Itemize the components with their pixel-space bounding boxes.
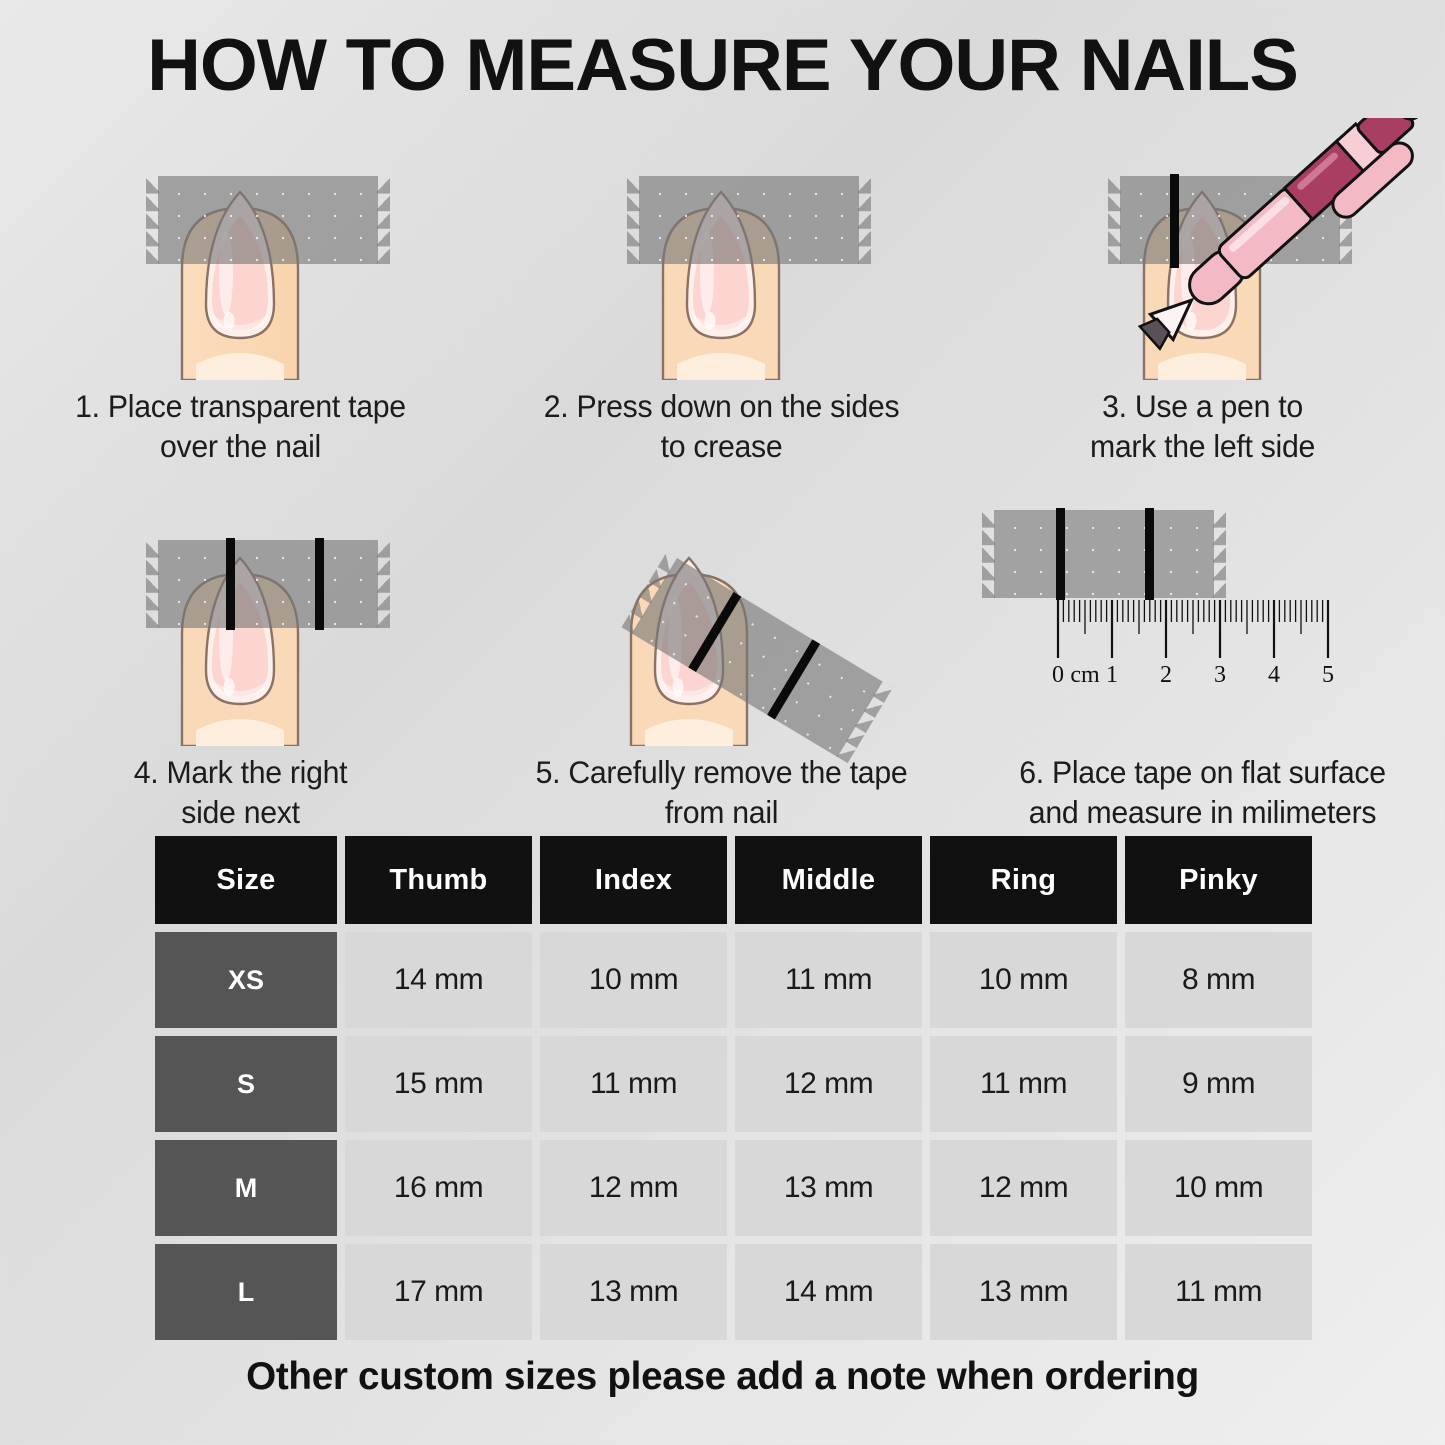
step-6-illustration: 012345cm [962,488,1443,746]
tape-dots [639,176,859,264]
infographic-root: HOW TO MEASURE YOUR NAILS [0,0,1445,1445]
table-header-row: Size Thumb Index Middle Ring Pinky [155,836,1322,924]
cell-s-index: 11 mm [540,1036,727,1132]
table-row: L 17 mm 13 mm 14 mm 13 mm 11 mm [155,1244,1322,1340]
cell-m-thumb: 16 mm [345,1140,532,1236]
step-4-illustration [0,488,481,746]
step-5-caption-line2: from nail [491,792,953,832]
size-table: Size Thumb Index Middle Ring Pinky XS 14… [155,836,1322,1348]
tape-dots [158,176,378,264]
ruler-ticks [1002,600,1332,710]
steps-row-1: 1. Place transparent tape over the nail [0,118,1445,466]
table-header-middle: Middle [735,836,922,924]
ruler-label-1: 1 [1106,662,1118,689]
left-pen-mark [1056,508,1065,600]
table-header-thumb: Thumb [345,836,532,924]
step-3-illustration [962,118,1443,380]
step-1-caption-line2: over the nail [10,426,472,466]
size-label-xs: XS [155,932,337,1028]
cell-xs-middle: 11 mm [735,932,922,1028]
cell-s-pinky: 9 mm [1125,1036,1312,1132]
ruler-label-5: 5 [1322,662,1334,689]
cell-l-middle: 14 mm [735,1244,922,1340]
step-5: 5. Carefully remove the tape from nail [481,488,962,832]
step-1: 1. Place transparent tape over the nail [0,118,481,466]
tape-dots [158,540,378,628]
step-3-caption-line1: 3. Use a pen to [972,386,1434,426]
cell-m-pinky: 10 mm [1125,1140,1312,1236]
step-6-caption: 6. Place tape on flat surface and measur… [972,752,1434,832]
cell-s-thumb: 15 mm [345,1036,532,1132]
table-row: XS 14 mm 10 mm 11 mm 10 mm 8 mm [155,932,1322,1028]
cell-l-pinky: 11 mm [1125,1244,1312,1340]
size-label-s: S [155,1036,337,1132]
cell-xs-ring: 10 mm [930,932,1117,1028]
table-header-pinky: Pinky [1125,836,1312,924]
cell-m-middle: 13 mm [735,1140,922,1236]
cell-l-ring: 13 mm [930,1244,1117,1340]
step-1-caption-line1: 1. Place transparent tape [10,386,472,426]
table-header-ring: Ring [930,836,1117,924]
step-4-caption-line2: side next [10,792,472,832]
cell-xs-pinky: 8 mm [1125,932,1312,1028]
size-label-l: L [155,1244,337,1340]
tape-strip [158,176,378,264]
pen-icon [962,118,1443,380]
step-4-caption-line1: 4. Mark the right [10,752,472,792]
cell-s-ring: 11 mm [930,1036,1117,1132]
step-2: 2. Press down on the sides to crease [481,118,962,466]
table-row: M 16 mm 12 mm 13 mm 12 mm 10 mm [155,1140,1322,1236]
tape-strip [639,176,859,264]
ruler-unit-label: cm [1070,662,1099,689]
tape-strip [994,510,1214,598]
ruler-label-2: 2 [1160,662,1172,689]
step-3-caption: 3. Use a pen to mark the left side [972,386,1434,466]
step-2-caption: 2. Press down on the sides to crease [491,386,953,466]
step-6-caption-line1: 6. Place tape on flat surface [972,752,1434,792]
steps-row-2: 4. Mark the right side next [0,488,1445,832]
ruler-icon: 012345cm [1002,600,1332,710]
right-pen-mark [315,538,324,630]
table-header-index: Index [540,836,727,924]
tape-dots [994,510,1214,598]
size-label-m: M [155,1140,337,1236]
page-title: HOW TO MEASURE YOUR NAILS [0,24,1445,107]
step-5-caption: 5. Carefully remove the tape from nail [491,752,953,832]
step-2-illustration [481,118,962,380]
cell-l-index: 13 mm [540,1244,727,1340]
step-1-illustration [0,118,481,380]
cell-xs-thumb: 14 mm [345,932,532,1028]
table-row: S 15 mm 11 mm 12 mm 11 mm 9 mm [155,1036,1322,1132]
table-header-size: Size [155,836,337,924]
step-4-caption: 4. Mark the right side next [10,752,472,832]
step-6: 012345cm 6. Place tape on flat surface a… [962,488,1443,832]
ruler-label-0: 0 [1052,662,1064,689]
step-5-illustration [481,488,962,746]
cell-l-thumb: 17 mm [345,1244,532,1340]
cell-xs-index: 10 mm [540,932,727,1028]
step-5-caption-line1: 5. Carefully remove the tape [491,752,953,792]
right-pen-mark [1145,508,1154,600]
step-1-caption: 1. Place transparent tape over the nail [10,386,472,466]
left-pen-mark [226,538,235,630]
steps-section: 1. Place transparent tape over the nail [0,118,1445,832]
ruler-label-4: 4 [1268,662,1280,689]
step-2-caption-line1: 2. Press down on the sides [491,386,953,426]
step-3: 3. Use a pen to mark the left side [962,118,1443,466]
cell-m-ring: 12 mm [930,1140,1117,1236]
cell-m-index: 12 mm [540,1140,727,1236]
ruler-label-3: 3 [1214,662,1226,689]
step-2-caption-line2: to crease [491,426,953,466]
tape-strip [158,540,378,628]
step-6-caption-line2: and measure in milimeters [972,792,1434,832]
step-4: 4. Mark the right side next [0,488,481,832]
footer-note: Other custom sizes please add a note whe… [7,1355,1438,1399]
cell-s-middle: 12 mm [735,1036,922,1132]
step-3-caption-line2: mark the left side [972,426,1434,466]
